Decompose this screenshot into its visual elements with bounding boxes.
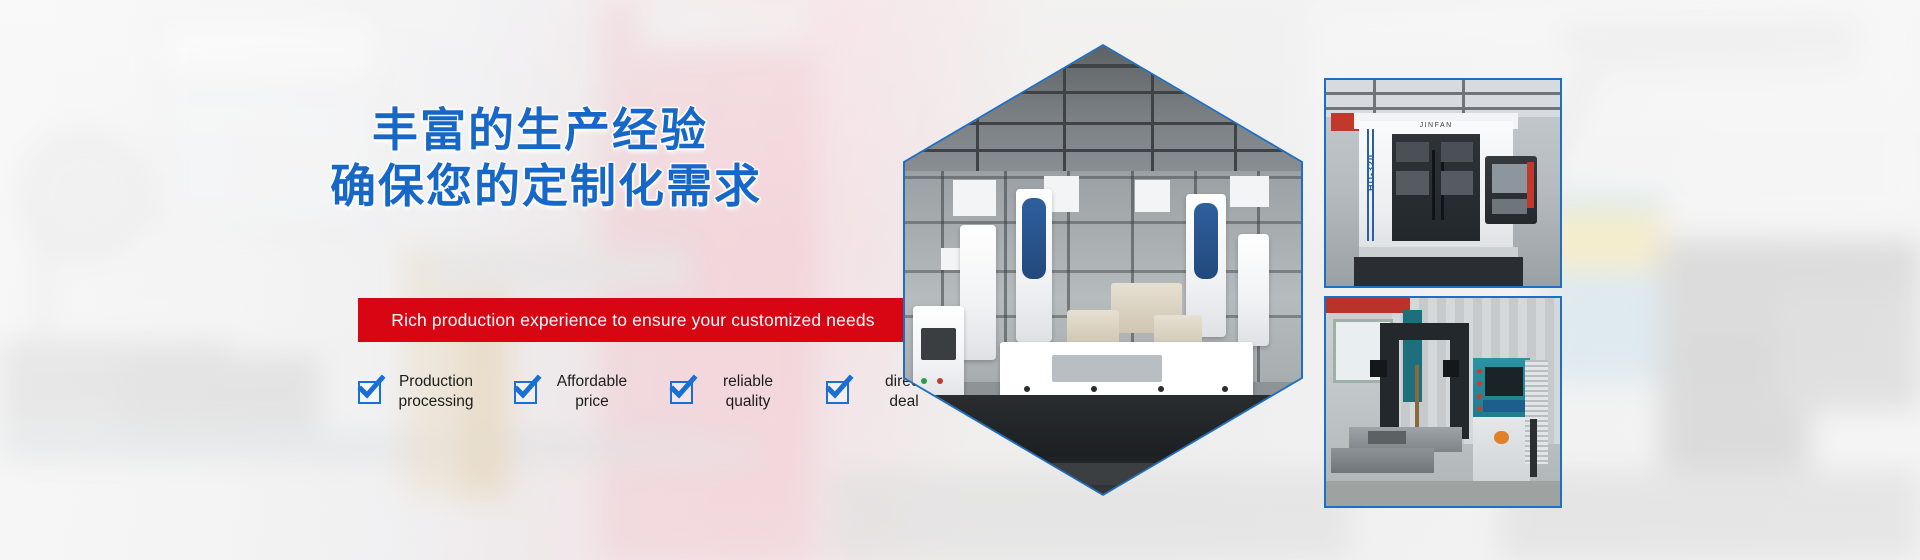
feature-list: Production processing Affordable price r… xyxy=(358,372,948,412)
banner-headline: 丰富的生产经验 确保您的定制化需求 xyxy=(330,104,750,215)
feature-label: Affordable price xyxy=(548,372,636,412)
checkbox-checked-icon xyxy=(670,381,693,404)
checkbox-checked-icon xyxy=(358,381,381,404)
thumb-cnc-machining-center[interactable]: HD-320 JINFAN xyxy=(1324,78,1562,288)
hexagon-photo-clip xyxy=(905,46,1301,494)
thumb-model-label: HD-320 xyxy=(1366,154,1376,191)
thumb-brand-label: JINFAN xyxy=(1420,122,1453,129)
hexagon-factory-photo[interactable] xyxy=(903,44,1303,496)
feature-label: reliable quality xyxy=(704,372,792,412)
headline-line-2: 确保您的定制化需求 xyxy=(330,160,750,214)
thumb-gantry-boring-machine[interactable] xyxy=(1324,296,1562,508)
subtitle-text: Rich production experience to ensure you… xyxy=(391,310,874,331)
feature-item-affordable-price[interactable]: Affordable price xyxy=(514,372,636,412)
checkbox-checked-icon xyxy=(514,381,537,404)
feature-label: Production processing xyxy=(392,372,480,412)
subtitle-bar: Rich production experience to ensure you… xyxy=(358,298,908,342)
product-banner: 丰富的生产经验 确保您的定制化需求 Rich production experi… xyxy=(0,0,1920,560)
feature-item-production-processing[interactable]: Production processing xyxy=(358,372,480,412)
factory-scene xyxy=(905,46,1301,494)
headline-line-1: 丰富的生产经验 xyxy=(330,104,750,158)
feature-item-reliable-quality[interactable]: reliable quality xyxy=(670,372,792,412)
checkbox-checked-icon xyxy=(826,381,849,404)
